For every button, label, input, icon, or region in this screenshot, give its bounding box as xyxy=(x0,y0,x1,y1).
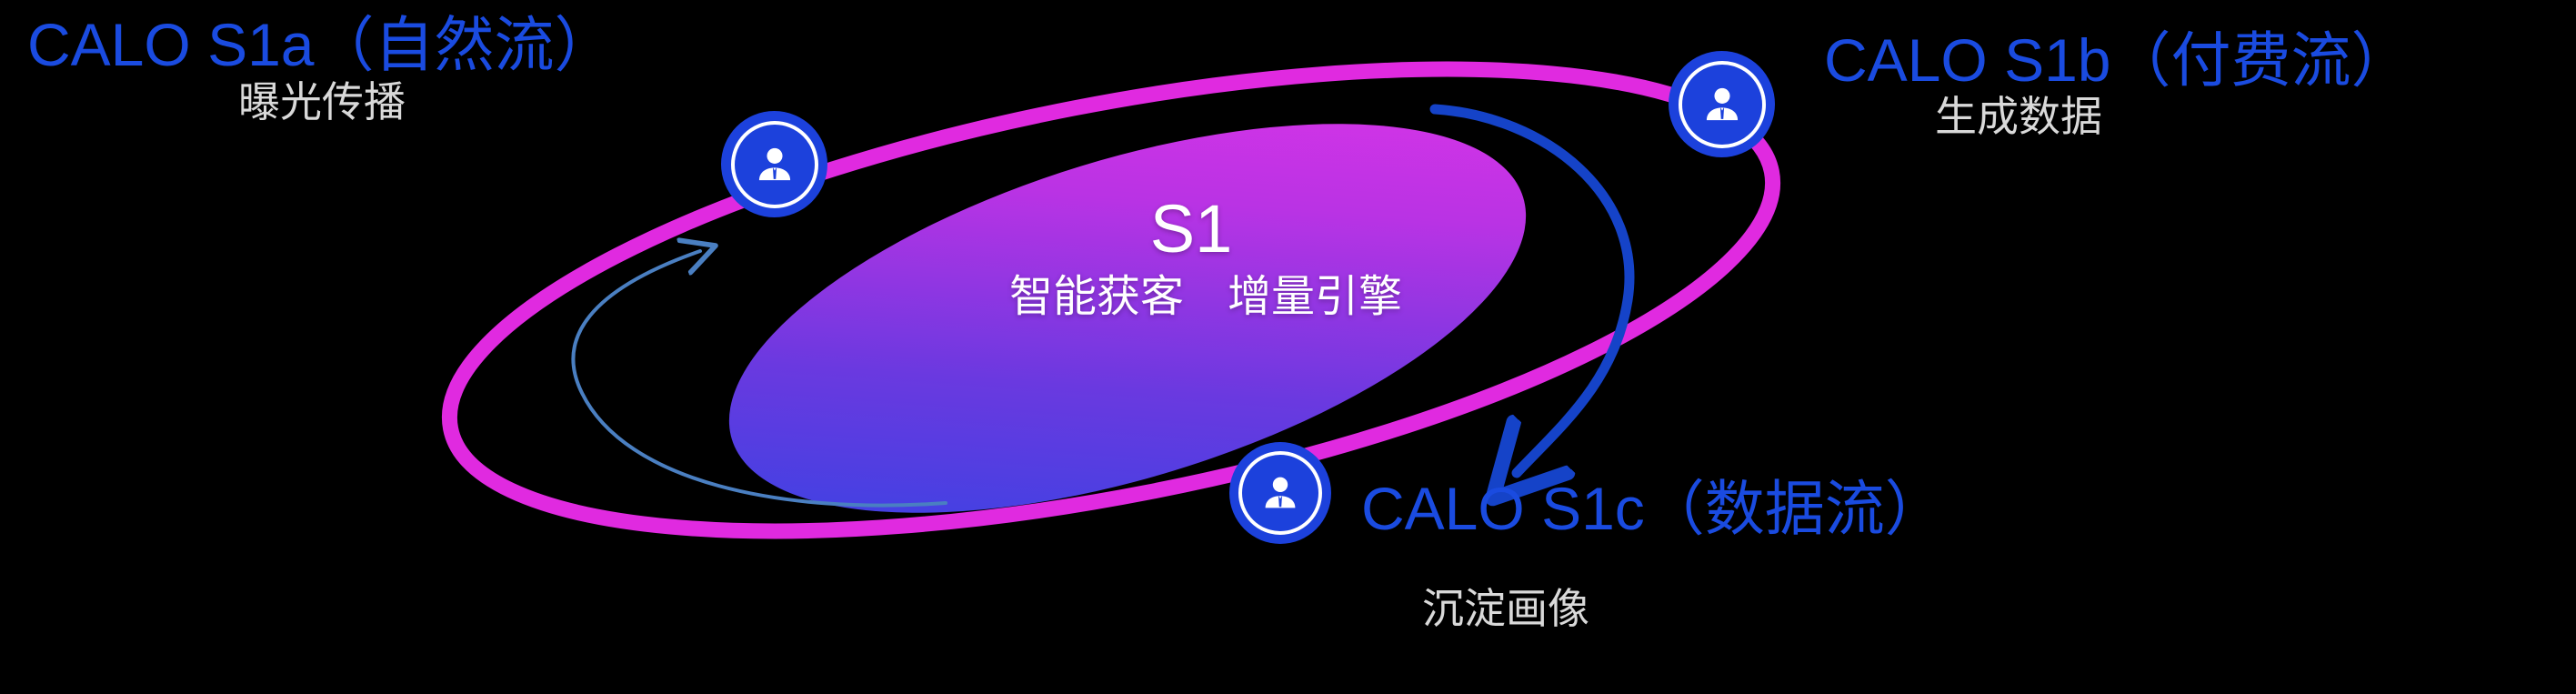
node-s1c-title: CALO S1c（数据流） xyxy=(1361,478,1945,540)
node-s1b-subtitle: 生成数据 xyxy=(1935,95,2102,138)
node-s1c-subtitle: 沉淀画像 xyxy=(1422,587,1589,630)
person-avatar-icon xyxy=(1699,82,1745,127)
node-s1a-subtitle: 曝光传播 xyxy=(238,80,406,124)
node-s1b-title: CALO S1b（付费流） xyxy=(1824,29,2411,92)
node-s1c-avatar[interactable] xyxy=(1229,442,1331,544)
person-avatar-icon xyxy=(1258,471,1302,515)
node-s1a-title: CALO S1a（自然流） xyxy=(27,14,615,76)
diagram-canvas: S1 智能获客 增量引擎 CALO S1a（自然流） 曝光传播 CALO S1b… xyxy=(0,0,2576,694)
avatar-ring xyxy=(1679,61,1766,148)
node-s1b-avatar[interactable] xyxy=(1669,51,1775,157)
node-s1a-avatar[interactable] xyxy=(721,111,827,217)
person-avatar-icon xyxy=(752,142,797,187)
avatar-ring xyxy=(1238,451,1322,535)
avatar-ring xyxy=(731,121,818,208)
